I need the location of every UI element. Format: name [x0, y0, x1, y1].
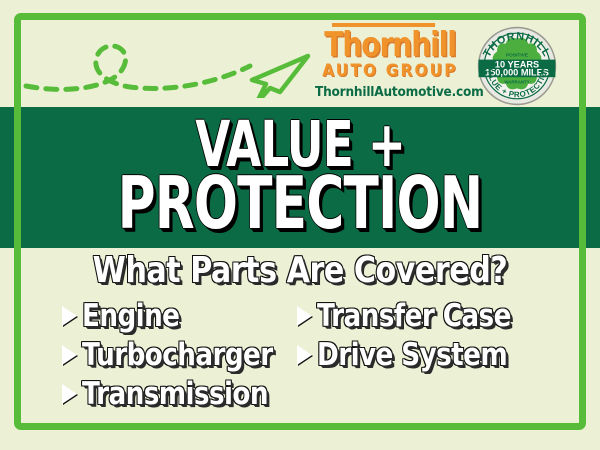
parts-column-left: Engine Turbocharger Transmission	[62, 297, 297, 414]
headline-line-2: PROTECTION	[118, 170, 483, 238]
covered-parts-section: What Parts Are Covered? Engine Turbochar…	[0, 250, 600, 414]
triangle-right-icon	[62, 345, 77, 365]
part-label: Transmission	[82, 376, 268, 412]
part-item-engine: Engine	[62, 297, 297, 334]
triangle-right-icon	[297, 306, 312, 326]
arrow-cursor-icon	[252, 56, 308, 98]
logo-wordmark: Thornhill	[321, 28, 459, 62]
part-label: Turbocharger	[82, 337, 273, 373]
part-item-transfer-case: Transfer Case	[297, 297, 532, 334]
triangle-right-icon	[62, 384, 77, 404]
logo-wordmark-text: Thornhill	[324, 25, 456, 65]
badge-small-top-text: POSITIVE	[506, 52, 529, 58]
part-item-turbocharger: Turbocharger	[62, 336, 297, 373]
thornhill-logo[interactable]: Thornhill AUTO GROUP ThornhillAutomotive…	[315, 28, 465, 100]
covered-parts-question: What Parts Are Covered?	[21, 250, 579, 291]
covered-parts-columns: Engine Turbocharger Transmission Transfe…	[0, 297, 600, 414]
part-item-transmission: Transmission	[62, 375, 297, 412]
part-label: Drive System	[317, 337, 507, 373]
part-label: Engine	[82, 298, 179, 334]
flight-path-decoration	[18, 18, 318, 98]
triangle-right-icon	[62, 306, 77, 326]
triangle-right-icon	[297, 345, 312, 365]
warranty-seal-badge[interactable]: THORNHILL POSITIVE 10 YEARS 150,000 MILE…	[477, 26, 557, 106]
badge-small-bottom-text: WARRANTY	[504, 80, 529, 85]
parts-column-right: Transfer Case Drive System	[297, 297, 532, 414]
logo-website[interactable]: ThornhillAutomotive.com	[315, 84, 465, 100]
headline-band: VALUE + PROTECTION	[0, 107, 600, 248]
part-label: Transfer Case	[317, 298, 511, 334]
part-item-drive-system: Drive System	[297, 336, 532, 373]
logo-top-bar-icon	[332, 23, 435, 27]
ad-banner[interactable]: Thornhill AUTO GROUP ThornhillAutomotive…	[0, 0, 600, 450]
